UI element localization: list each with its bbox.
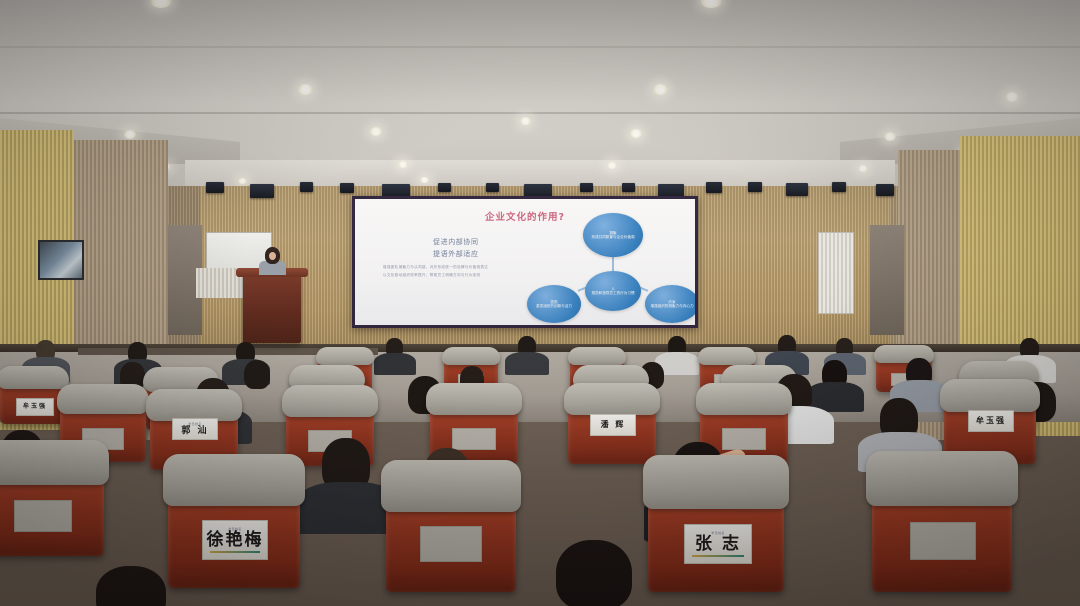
chair-name-slot	[452, 428, 496, 450]
ceiling-light	[124, 130, 136, 139]
ceiling-light	[607, 162, 617, 169]
ceiling-light	[238, 178, 247, 184]
chair-nameplate: 学员姓名 张 志	[684, 524, 752, 564]
chair-headrest	[643, 455, 790, 509]
chair-nameplate: 潘 辉	[590, 414, 636, 436]
nameplate-name: 郭 汕	[181, 427, 208, 436]
ceiling-light	[653, 84, 668, 95]
ceiling-light	[858, 165, 868, 172]
ceiling-speaker	[580, 183, 593, 192]
ceiling-light	[398, 161, 408, 168]
chair-headrest	[316, 347, 374, 365]
slide-line-2: 提语外部适应	[433, 249, 479, 259]
slide-node-right: 约束 增强组织的凝聚力与向心力	[645, 285, 695, 323]
chair-headrest	[866, 451, 1017, 506]
projection-screen[interactable]: 企业文化的作用? 促进内部协同 提语外部适应 增强团队凝聚力与认同感，对外形成统…	[352, 196, 698, 328]
slide-surface: 企业文化的作用? 促进内部协同 提语外部适应 增强团队凝聚力与认同感，对外形成统…	[355, 199, 695, 325]
chair-name-slot	[14, 500, 72, 532]
wall-display-panel	[38, 240, 84, 280]
ceiling-light	[630, 129, 642, 138]
chair-headrest	[282, 385, 377, 417]
slide-line-1: 促进内部协同	[433, 237, 479, 247]
chair[interactable]: 学员姓名 张 志	[648, 470, 784, 592]
ceiling-seam-upper	[0, 46, 1080, 48]
chair[interactable]: 潘 辉	[568, 392, 656, 464]
chair-headrest	[698, 347, 756, 365]
slide-bullet-2: 以文化驱动组织效率提升，帮助员工明确方向与行为准则	[383, 273, 480, 278]
nameplate-name: 牟玉强	[976, 417, 1006, 425]
attendee-head-foreground	[96, 566, 166, 606]
chair-headrest	[442, 347, 500, 365]
chair-headrest	[696, 383, 791, 415]
chair-headrest	[163, 454, 306, 507]
chair[interactable]	[0, 452, 104, 556]
nameplate-rule	[692, 555, 743, 557]
slide-node-top: 凝聚 形成共同愿景与企业价值观	[583, 213, 643, 257]
slide-node-center: 人 规范和指导员工的行为习惯	[585, 271, 641, 311]
nameplate-rule	[210, 551, 260, 553]
chair[interactable]	[872, 466, 1012, 592]
slide-bullet-1: 增强团队凝聚力与认同感，对外形成统一的品牌与价值观表达	[383, 265, 488, 270]
chair-headrest	[381, 460, 521, 512]
ceiling-speaker	[340, 183, 354, 193]
chair-nameplate: 牟玉强	[16, 398, 54, 416]
chair-headrest	[146, 389, 241, 421]
slide-title: 企业文化的作用?	[355, 209, 695, 223]
slide-node-top-body: 形成共同愿景与企业价值观	[591, 235, 634, 239]
nameplate-name: 张 志	[695, 536, 741, 553]
slide-node-center-body: 规范和指导员工的行为习惯	[591, 291, 634, 295]
ceiling-light	[1005, 92, 1019, 102]
nameplate-name: 徐艳梅	[207, 532, 264, 549]
ceiling-speaker	[706, 182, 722, 193]
slide-node-left-body: 激发组织的创新与活力	[536, 304, 572, 308]
attendee-head-foreground	[556, 540, 632, 606]
auditorium-scene: 企业文化的作用? 促进内部协同 提语外部适应 增强团队凝聚力与认同感，对外形成统…	[0, 0, 1080, 606]
ceiling-speaker	[486, 183, 499, 192]
podium	[243, 271, 301, 343]
slide-node-center-header: 人	[611, 287, 615, 291]
chair-headrest	[940, 379, 1039, 412]
ceiling-speaker	[622, 183, 635, 192]
ceiling-light	[420, 177, 429, 183]
chair-name-slot	[722, 428, 766, 450]
chair-headrest	[426, 383, 521, 415]
chair-nameplate: 牟玉强	[968, 410, 1014, 432]
ceiling-speaker	[300, 182, 313, 192]
ceiling-light	[520, 117, 531, 125]
nameplate-name: 潘 辉	[601, 421, 626, 429]
ceiling-speaker	[748, 182, 762, 192]
ceiling-light	[370, 127, 382, 136]
attendee-shoulders	[374, 353, 416, 375]
ceiling-speaker	[876, 184, 894, 196]
ceiling-speaker	[206, 182, 224, 193]
chair-nameplate: 学员姓名 徐艳梅	[202, 520, 268, 560]
ceiling-speaker	[832, 182, 846, 192]
chair-nameplate: 学员姓名 郭 汕	[172, 418, 218, 440]
wall-radiator	[818, 232, 854, 314]
attendee-shoulders	[505, 352, 549, 375]
chair-name-slot	[910, 522, 976, 560]
slide-node-right-body: 增强组织的凝聚力与向心力	[650, 304, 693, 308]
doorway-right[interactable]	[870, 225, 904, 335]
ceiling-speaker	[786, 183, 808, 196]
slide-node-top-header: 凝聚	[609, 231, 616, 235]
chair-headrest	[564, 383, 659, 415]
slide-node-left-header: 激励	[550, 300, 557, 304]
ceiling-light	[298, 84, 313, 95]
chair-headrest	[0, 440, 109, 486]
attendee-head	[244, 360, 270, 389]
nameplate-name: 牟玉强	[23, 404, 47, 410]
presenter-face	[269, 252, 276, 260]
chair[interactable]: 学员姓名 徐艳梅	[168, 468, 300, 588]
chair-name-slot	[420, 526, 482, 562]
chair[interactable]	[386, 474, 516, 592]
chair-headrest	[57, 384, 150, 415]
chair-headrest	[568, 347, 626, 365]
chair-headrest	[0, 366, 69, 389]
slide-node-right-header: 约束	[668, 300, 675, 304]
ceiling-speaker	[438, 183, 451, 192]
ceiling-seam-lower	[0, 112, 1080, 114]
slide-node-left: 激励 激发组织的创新与活力	[527, 285, 581, 323]
ceiling-light	[884, 132, 896, 141]
ceiling-speaker	[250, 184, 274, 198]
